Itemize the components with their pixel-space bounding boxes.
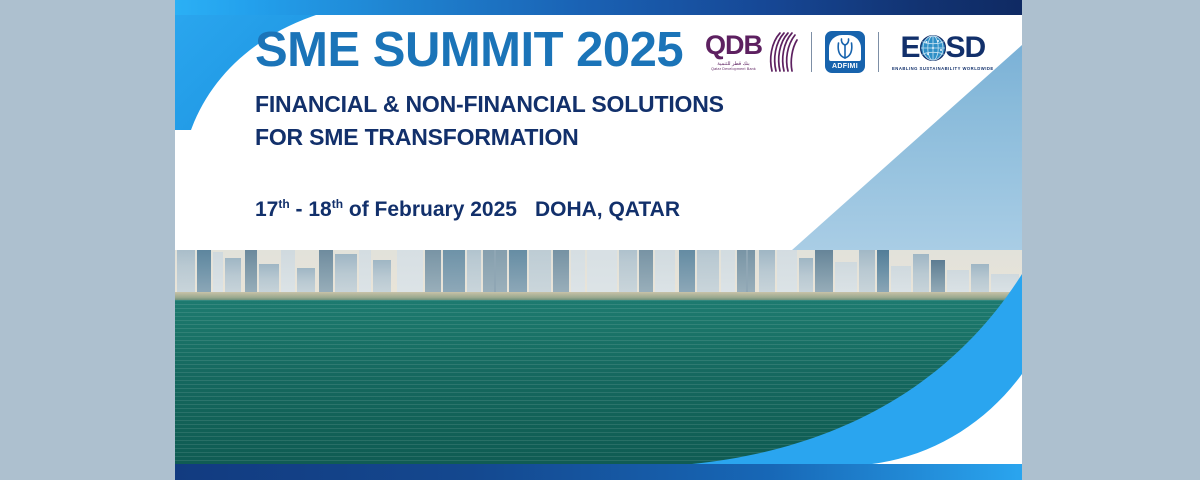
date-dash: - [290,198,309,221]
date-day-end: 18 [308,198,331,221]
date-day-end-suffix: th [332,197,343,211]
qdb-wordmark-block: QDB بنك قطر للتنمية Qatar Development Ba… [705,32,762,72]
qdb-logo[interactable]: QDB بنك قطر للتنمية Qatar Development Ba… [705,31,798,73]
date-day-start-suffix: th [278,197,289,211]
logo-divider [811,32,812,72]
adfimi-tulip-icon [836,38,854,59]
date-rest: of February 2025 [343,198,517,221]
qdb-flame-feather-icon [768,31,798,73]
adfimi-logo[interactable]: ADFIMI [825,31,865,73]
eosd-globe-icon [919,34,947,62]
page-title: SME SUMMIT 2025 [255,22,683,78]
eosd-logo[interactable]: E [892,33,994,71]
subtitle-line-1: FINANCIAL & NON-FINANCIAL SOLUTIONS [255,88,724,121]
event-banner: SME SUMMIT 2025 FINANCIAL & NON-FINANCIA… [0,0,1200,480]
date-day-start: 17 [255,198,278,221]
eosd-wordmark-sd: SD [946,33,986,63]
eosd-wordmark-block: E [901,33,986,63]
adfimi-wordmark: ADFIMI [832,63,858,70]
qdb-wordmark: QDB [705,32,762,59]
qdb-english-name: Qatar Development Bank [711,68,756,72]
bottom-gradient-bar [175,464,1022,480]
top-gradient-strip [175,0,1022,15]
date-location-line: 17th - 18th of February 2025DOHA, QATAR [255,197,680,222]
eosd-tagline: ENABLING SUSTAINABILITY WORLDWIDE [892,66,994,71]
poster-card: SME SUMMIT 2025 FINANCIAL & NON-FINANCIA… [175,0,1022,480]
location-text: DOHA, QATAR [535,198,680,221]
subtitle-line-2: FOR SME TRANSFORMATION [255,121,724,154]
eosd-wordmark-e: E [901,33,920,63]
partner-logo-row: QDB بنك قطر للتنمية Qatar Development Ba… [705,22,994,82]
qdb-arabic-name: بنك قطر للتنمية [717,62,749,67]
logo-divider [878,32,879,72]
subtitle-block: FINANCIAL & NON-FINANCIAL SOLUTIONS FOR … [255,88,724,153]
